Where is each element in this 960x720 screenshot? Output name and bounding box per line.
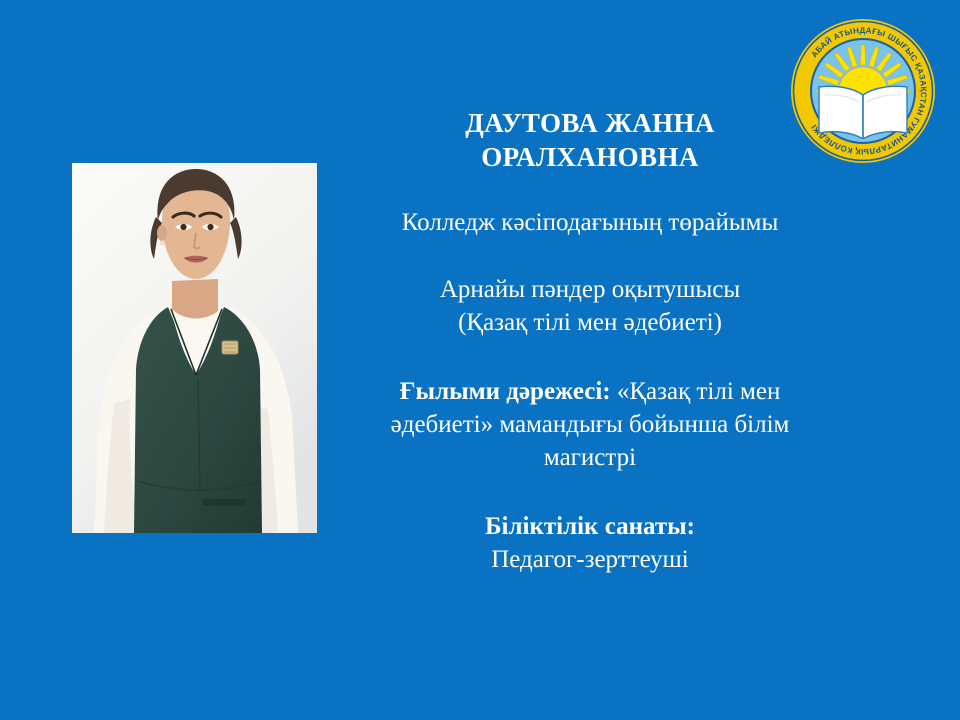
qualification-category-text: Біліктілік санаты: Педагог-зерттеуші [355,510,825,576]
slide-canvas: АБАЙ АТЫНДАҒЫ ШЫҒЫС ҚАЗАҚСТАН ГУМАНИТАРЛ… [0,0,960,720]
portrait-photo [72,163,317,533]
person-name-line2: ОРАЛХАНОВНА [481,142,699,172]
role-line2: (Қазақ тілі мен әдебиеті) [458,309,722,336]
degree-value-line3: магистрі [544,444,636,471]
degree-value-line1: «Қазақ тілі мен [617,378,780,405]
degree-value-line2: әдебиеті» мамандығы бойынша білім [391,411,790,438]
role-line1: Арнайы пәндер оқытушысы [440,276,740,303]
degree-label: Ғылыми дәрежесі: [400,378,611,405]
open-book-icon [819,86,907,139]
person-name-line1: ДАУТОВА ЖАННА [465,108,715,138]
position-text: Колледж кәсіподағының төрайымы [355,206,825,239]
category-value: Педагог-зерттеуші [491,546,689,573]
academic-degree-text: Ғылыми дәрежесі: «Қазақ тілі мен әдебиет… [355,375,825,474]
page-title: ДАУТОВА ЖАННА ОРАЛХАНОВНА [355,106,825,174]
category-label: Біліктілік санаты: [485,513,695,540]
info-text-column: ДАУТОВА ЖАННА ОРАЛХАНОВНА Колледж кәсіпо… [355,106,825,576]
role-text: Арнайы пәндер оқытушысы (Қазақ тілі мен … [355,273,825,339]
